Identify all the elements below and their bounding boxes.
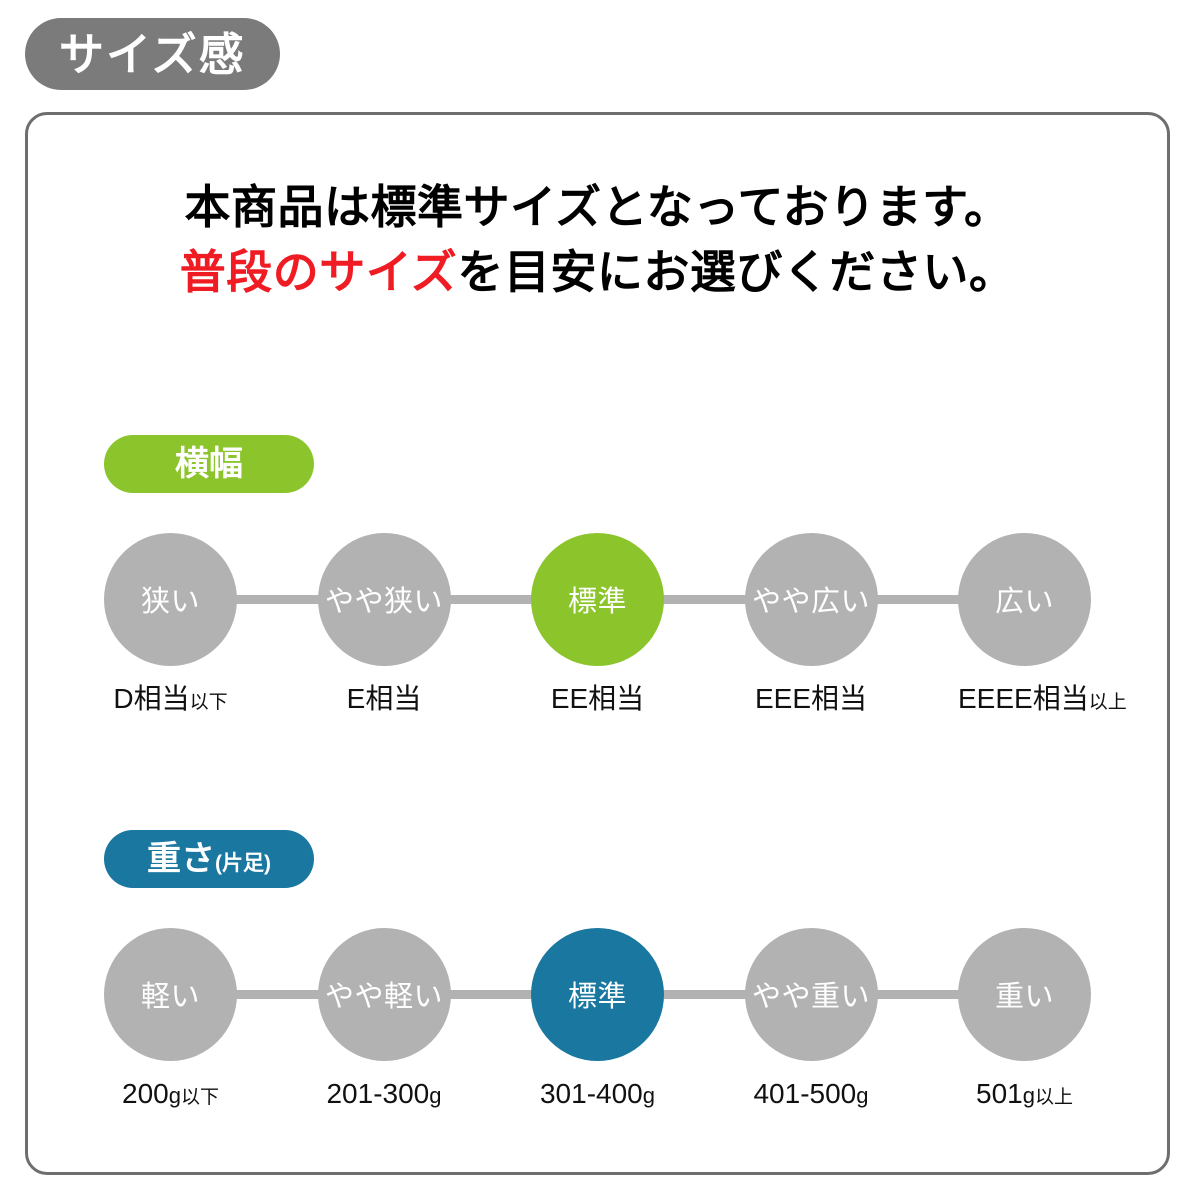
width-caption-1-main: E相当 [347, 683, 422, 714]
weight-node-0-label: 軽い [141, 973, 200, 1015]
header-badge-label: サイズ感 [59, 32, 246, 77]
weight-node-4[interactable]: 重い [958, 928, 1091, 1061]
width-node-2-label: 標準 [568, 578, 627, 620]
weight-node-2-active[interactable]: 標準 [531, 928, 664, 1061]
width-caption-4: EEEE相当以上 [958, 685, 1091, 713]
weight-node-0[interactable]: 軽い [104, 928, 237, 1061]
weight-scale: 軽い やや軽い 標準 やや重い 重い [104, 926, 1091, 1062]
headline-line-2: 普段のサイズを目安にお選びください。 [28, 240, 1167, 305]
weight-caption-0: 200g以下 [104, 1080, 237, 1108]
width-node-3-label: やや広い [752, 578, 870, 620]
width-node-1[interactable]: やや狭い [318, 533, 451, 666]
headline-line-1-text: 本商品は標準サイズとなっております。 [185, 181, 1011, 233]
weight-caption-0-unit: g [169, 1083, 181, 1108]
headline-line-1: 本商品は標準サイズとなっております。 [28, 175, 1167, 240]
weight-node-1-label: やや軽い [325, 973, 443, 1015]
weight-caption-1: 201-300g [318, 1080, 451, 1108]
weight-caption-1-main: 201-300 [326, 1078, 429, 1109]
width-caption-4-main: EEEE相当 [958, 683, 1089, 714]
width-caption-0-main: D相当 [113, 683, 189, 714]
weight-caption-2-main: 301-400 [540, 1078, 643, 1109]
weight-caption-2: 301-400g [531, 1080, 664, 1108]
weight-node-3[interactable]: やや重い [745, 928, 878, 1061]
weight-caption-4-main: 501 [976, 1078, 1023, 1109]
width-node-1-label: やや狭い [325, 578, 443, 620]
width-node-2-active[interactable]: 標準 [531, 533, 664, 666]
weight-caption-3: 401-500g [745, 1080, 878, 1108]
width-node-0-label: 狭い [141, 578, 200, 620]
width-badge-label: 横幅 [175, 435, 243, 493]
weight-caption-4: 501g以上 [958, 1080, 1091, 1108]
weight-badge-sublabel: (片足) [215, 835, 271, 893]
weight-node-4-label: 重い [995, 973, 1054, 1015]
width-node-list: 狭い やや狭い 標準 やや広い 広い [104, 531, 1091, 667]
headline-accent-text: 普段のサイズ [180, 246, 458, 298]
width-caption-1: E相当 [318, 685, 451, 713]
weight-caption-1-unit: g [429, 1083, 441, 1108]
weight-caption-4-unit: g [1023, 1083, 1035, 1108]
size-feel-header-badge: サイズ感 [25, 18, 280, 90]
width-caption-0-sub: 以下 [190, 692, 228, 713]
weight-caption-0-main: 200 [122, 1078, 169, 1109]
weight-caption-3-main: 401-500 [753, 1078, 856, 1109]
weight-node-2-label: 標準 [568, 973, 627, 1015]
width-caption-2-main: EE相当 [551, 683, 644, 714]
width-node-4-label: 広い [995, 578, 1054, 620]
weight-node-1[interactable]: やや軽い [318, 928, 451, 1061]
width-caption-2: EE相当 [531, 685, 664, 713]
width-section-badge: 横幅 [104, 435, 314, 493]
width-caption-3-main: EEE相当 [755, 683, 867, 714]
weight-caption-list: 200g以下 201-300g 301-400g 401-500g 501g以上 [104, 1080, 1091, 1108]
width-node-4[interactable]: 広い [958, 533, 1091, 666]
weight-caption-0-sub: 以下 [181, 1087, 219, 1108]
width-scale: 狭い やや狭い 標準 やや広い 広い [104, 531, 1091, 667]
weight-node-list: 軽い やや軽い 標準 やや重い 重い [104, 926, 1091, 1062]
weight-caption-3-unit: g [856, 1083, 868, 1108]
weight-node-3-label: やや重い [752, 973, 870, 1015]
width-caption-3: EEE相当 [745, 685, 878, 713]
headline-line-2-rest: を目安にお選びください。 [457, 246, 1015, 298]
width-node-3[interactable]: やや広い [745, 533, 878, 666]
width-caption-4-sub: 以上 [1089, 692, 1127, 713]
weight-caption-2-unit: g [643, 1083, 655, 1108]
width-caption-0: D相当以下 [104, 685, 237, 713]
size-info-card: 本商品は標準サイズとなっております。 普段のサイズを目安にお選びください。 横幅… [25, 112, 1170, 1175]
headline-block: 本商品は標準サイズとなっております。 普段のサイズを目安にお選びください。 [28, 175, 1167, 306]
width-node-0[interactable]: 狭い [104, 533, 237, 666]
weight-section-badge: 重さ (片足) [104, 830, 314, 888]
weight-caption-4-sub: 以上 [1035, 1087, 1073, 1108]
width-caption-list: D相当以下 E相当 EE相当 EEE相当 EEEE相当以上 [104, 685, 1091, 713]
weight-badge-label: 重さ [147, 830, 215, 888]
